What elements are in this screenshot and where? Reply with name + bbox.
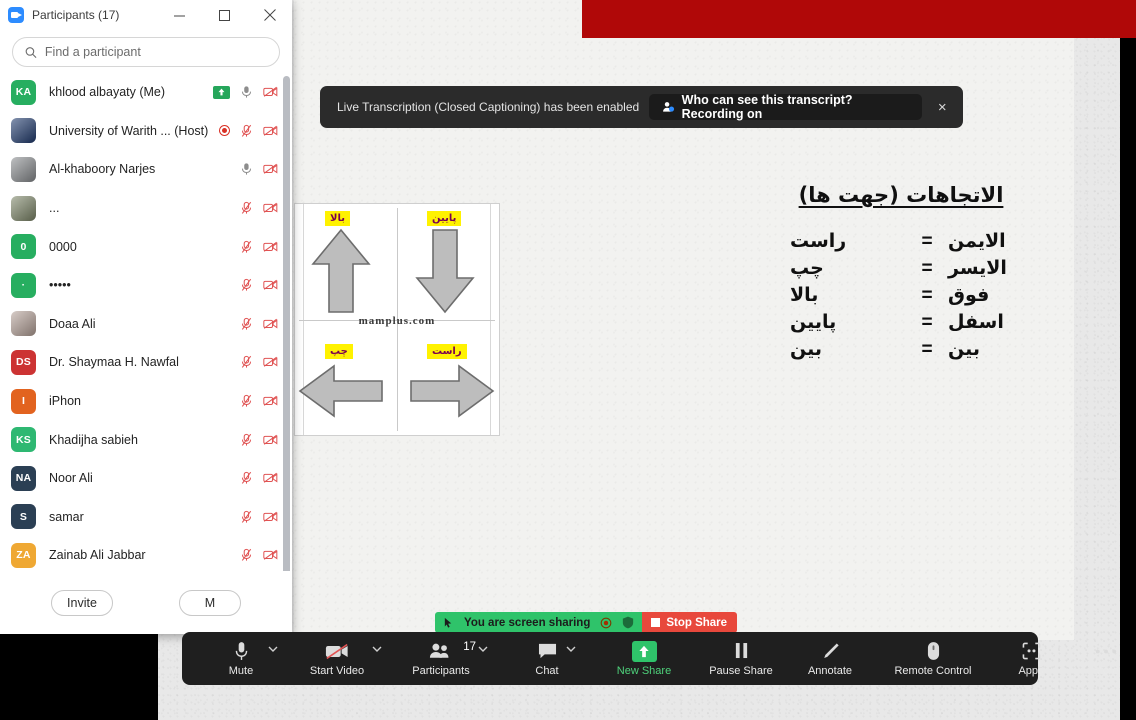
toolbar-remote-control-button[interactable]: Remote Control [884,632,982,685]
avatar: DS [11,350,36,375]
transcript-info-button[interactable]: Who can see this transcript? Recording o… [649,94,921,120]
transcript-info-label: Who can see this transcript? Recording o… [682,93,909,121]
label-up: بالا [325,211,350,226]
pencil-icon [821,641,840,662]
participant-name: samar [49,510,239,524]
arrow-left-icon [298,364,384,418]
video-off-icon [263,240,278,254]
toolbar-new-share-label: New Share [617,665,671,677]
toolbar-pause-share-button[interactable]: Pause Share [700,632,782,685]
maximize-button[interactable] [202,0,247,31]
quadrant-left: چپ [295,320,397,436]
avatar: KA [11,80,36,105]
participant-status-icons [239,201,278,215]
equals-sign: = [910,311,944,335]
chat-icon [537,641,558,662]
arabic-term: فوق [944,283,1032,307]
arrow-down-icon [415,228,475,314]
participant-name: khlood albayaty (Me) [49,85,213,99]
video-off-icon [263,471,278,485]
vocabulary-title: الاتجاهات (جهت ها) [770,183,1032,207]
equals-sign: = [910,284,944,308]
video-off-icon [263,278,278,292]
minimize-button[interactable] [157,0,202,31]
toolbar-remote-control-label: Remote Control [894,665,971,677]
toolbar-new-share-button[interactable]: New Share [608,632,680,685]
video-off-icon [263,124,278,138]
microphone-muted-icon [239,124,254,138]
vocabulary-row: فوق = بالا [770,283,1032,308]
arabic-term: الايسر [944,256,1032,280]
participants-window-title: Participants (17) [32,8,157,22]
label-left: چپ [325,344,353,359]
toolbar-chat-button[interactable]: Chat [524,632,570,685]
window-controls [157,0,292,31]
participant-name: 0000 [49,240,239,254]
participant-status-icons [239,394,278,408]
toolbar-apps-button[interactable]: Apps [1008,632,1054,685]
arabic-term: اسفل [944,310,1032,334]
avatar: ZA [11,543,36,568]
toast-message: Live Transcription (Closed Captioning) h… [337,100,639,114]
avatar: S [11,504,36,529]
participant-status-icons [239,240,278,254]
microphone-muted-icon [239,355,254,369]
participant-status-icons [239,510,278,524]
video-off-icon [263,162,278,176]
microphone-muted-icon [239,471,254,485]
participant-status-icons [239,548,278,562]
search-box[interactable] [12,37,280,67]
stop-square-icon [651,618,660,627]
microphone-muted-icon [239,510,254,524]
equals-sign: = [910,338,944,362]
participant-name: ... [49,201,239,215]
label-down: پایین [427,211,461,226]
search-input[interactable] [45,45,267,59]
participant-name: Dr. Shaymaa H. Nawfal [49,355,239,369]
arrow-up-icon [311,228,371,314]
recording-indicator-icon [219,125,230,136]
quadrant-down: پایین [397,204,499,320]
participant-row[interactable]: NANoor Ali [0,459,292,498]
share-up-arrow-icon [632,641,657,662]
participants-window: Participants (17) [0,0,292,634]
participant-row[interactable]: ZAZainab Ali Jabbar [0,536,292,571]
participants-list[interactable]: KAkhlood albayaty (Me)University of Wari… [0,73,292,571]
toolbar-participants-button[interactable]: 17 Participants [400,632,482,685]
chevron-down-icon[interactable] [372,644,382,654]
avatar: KS [11,427,36,452]
video-off-icon [325,641,349,662]
participant-status-icons [239,162,278,176]
microphone-muted-icon [239,548,254,562]
mouse-icon [927,641,940,662]
microphone-icon [239,85,254,99]
equals-sign: = [910,257,944,281]
live-transcription-toast: Live Transcription (Closed Captioning) h… [320,86,963,128]
video-off-icon [263,201,278,215]
participants-titlebar: Participants (17) [0,0,292,31]
participant-row[interactable]: Doaa Ali [0,305,292,344]
chevron-down-icon[interactable] [268,644,278,654]
participant-status-icons [239,355,278,369]
participant-row[interactable]: DSDr. Shaymaa H. Nawfal [0,343,292,382]
participant-name: ••••• [49,278,239,292]
cursor-icon [443,617,454,628]
participant-row[interactable]: KSKhadijha sabieh [0,420,292,459]
participant-row[interactable]: KAkhlood albayaty (Me) [0,73,292,112]
arrow-right-icon [409,364,495,418]
participants-scrollbar[interactable] [283,76,290,596]
persian-term: بالا [790,283,910,307]
recording-dot-icon [600,617,612,629]
video-off-icon [263,510,278,524]
participant-row[interactable]: Al-khaboory Narjes [0,150,292,189]
video-off-icon [263,317,278,331]
microphone-muted-icon [239,240,254,254]
sharing-indicator: You are screen sharing [435,612,642,633]
vocabulary-row: الايسر = چپ [770,256,1032,281]
video-off-icon [263,433,278,447]
toolbar-more-button[interactable]: More [1082,632,1130,685]
persian-term: پایین [790,310,910,334]
microphone-muted-icon [239,433,254,447]
toolbar-more-label: More [1093,665,1118,677]
avatar: NA [11,466,36,491]
microphone-icon [239,162,254,176]
persian-term: بين [790,337,910,361]
zoom-logo-icon [8,7,24,23]
participant-row[interactable]: Ssamar [0,498,292,537]
pause-icon [734,641,749,662]
toolbar-mute-button[interactable]: Mute [210,632,272,685]
nonverbal-feedback-badge[interactable] [213,86,230,99]
maximize-icon [219,10,230,21]
arabic-term: الايمن [944,229,1032,253]
microphone-muted-icon [239,278,254,292]
mute-all-button[interactable]: M [179,590,241,616]
participant-row[interactable]: IiPhon [0,382,292,421]
avatar: I [11,389,36,414]
participant-name: Doaa Ali [49,317,239,331]
persian-term: چپ [790,256,910,280]
toolbar-apps-label: Apps [1018,665,1043,677]
avatar: 0 [11,234,36,259]
participants-count: 17 [463,641,476,653]
apps-icon [1022,641,1041,662]
toolbar-chat-label: Chat [535,665,558,677]
participant-name: Noor Ali [49,471,239,485]
avatar [11,196,36,221]
screen-sharing-status-bar: You are screen sharing Stop Share [435,612,737,633]
video-off-icon [263,355,278,369]
shield-icon [622,616,634,629]
sharing-status-label: You are screen sharing [464,617,590,629]
search-area [0,31,292,75]
meeting-toolbar: Mute Start Video [182,632,1038,685]
avatar [11,118,36,143]
ellipsis-icon [1095,641,1117,662]
participant-row[interactable]: University of Warith ... (Host) [0,112,292,151]
participant-row[interactable]: ·••••• [0,266,292,305]
screen-root: بالا پایین چپ راست mamplus.com ال [0,0,1136,720]
avatar [11,311,36,336]
participant-status-icons [239,471,278,485]
video-off-icon [263,548,278,562]
toolbar-annotate-label: Annotate [808,665,852,677]
quadrant-up: بالا [295,204,397,320]
toolbar-pause-share-label: Pause Share [709,665,773,677]
persian-term: راست [790,229,910,253]
minimize-icon [174,10,185,21]
microphone-muted-icon [239,394,254,408]
watermark: mamplus.com [295,315,499,327]
vocabulary-row: بين = بين [770,337,1032,362]
microphone-icon [234,641,249,662]
chevron-down-icon[interactable] [478,644,488,654]
participant-status-icons [239,433,278,447]
close-icon [264,9,276,21]
person-info-icon [662,100,674,114]
participant-name: iPhon [49,394,239,408]
toast-close-button[interactable]: × [932,95,953,119]
participant-row[interactable]: ... [0,189,292,228]
participants-icon [428,641,455,662]
directions-arrows-diagram: بالا پایین چپ راست mamplus.com [294,203,500,436]
slide-red-banner [582,0,1136,38]
participant-status-icons [239,278,278,292]
avatar [11,157,36,182]
participant-name: Zainab Ali Jabbar [49,548,239,562]
stop-share-label: Stop Share [666,617,727,629]
toolbar-start-video-button[interactable]: Start Video [298,632,376,685]
toolbar-participants-label: Participants [412,665,469,677]
participant-status-icons [219,124,278,138]
participant-name: Al-khaboory Narjes [49,162,239,176]
vocabulary-row: الايمن = راست [770,229,1032,254]
avatar: · [11,273,36,298]
participant-name: Khadijha sabieh [49,433,239,447]
invite-button[interactable]: Invite [51,590,113,616]
toolbar-mute-label: Mute [229,665,253,677]
stop-share-button[interactable]: Stop Share [642,612,737,633]
microphone-muted-icon [239,317,254,331]
participant-row[interactable]: 00000 [0,227,292,266]
search-icon [25,46,37,59]
toolbar-annotate-button[interactable]: Annotate [798,632,862,685]
toolbar-start-video-label: Start Video [310,665,364,677]
participant-name: University of Warith ... (Host) [49,124,219,138]
directions-vocabulary: الاتجاهات (جهت ها) الايمن = راست الايسر … [770,183,1032,364]
participants-footer: Invite M [0,571,292,634]
vocabulary-row: اسفل = پایین [770,310,1032,335]
close-button[interactable] [247,0,292,31]
video-off-icon [263,85,278,99]
participant-status-icons [213,85,278,99]
quadrant-right: راست [397,320,499,436]
chevron-down-icon[interactable] [566,644,576,654]
arabic-term: بين [944,337,1032,361]
video-off-icon [263,394,278,408]
participant-status-icons [239,317,278,331]
label-right: راست [427,344,467,359]
equals-sign: = [910,230,944,254]
microphone-muted-icon [239,201,254,215]
